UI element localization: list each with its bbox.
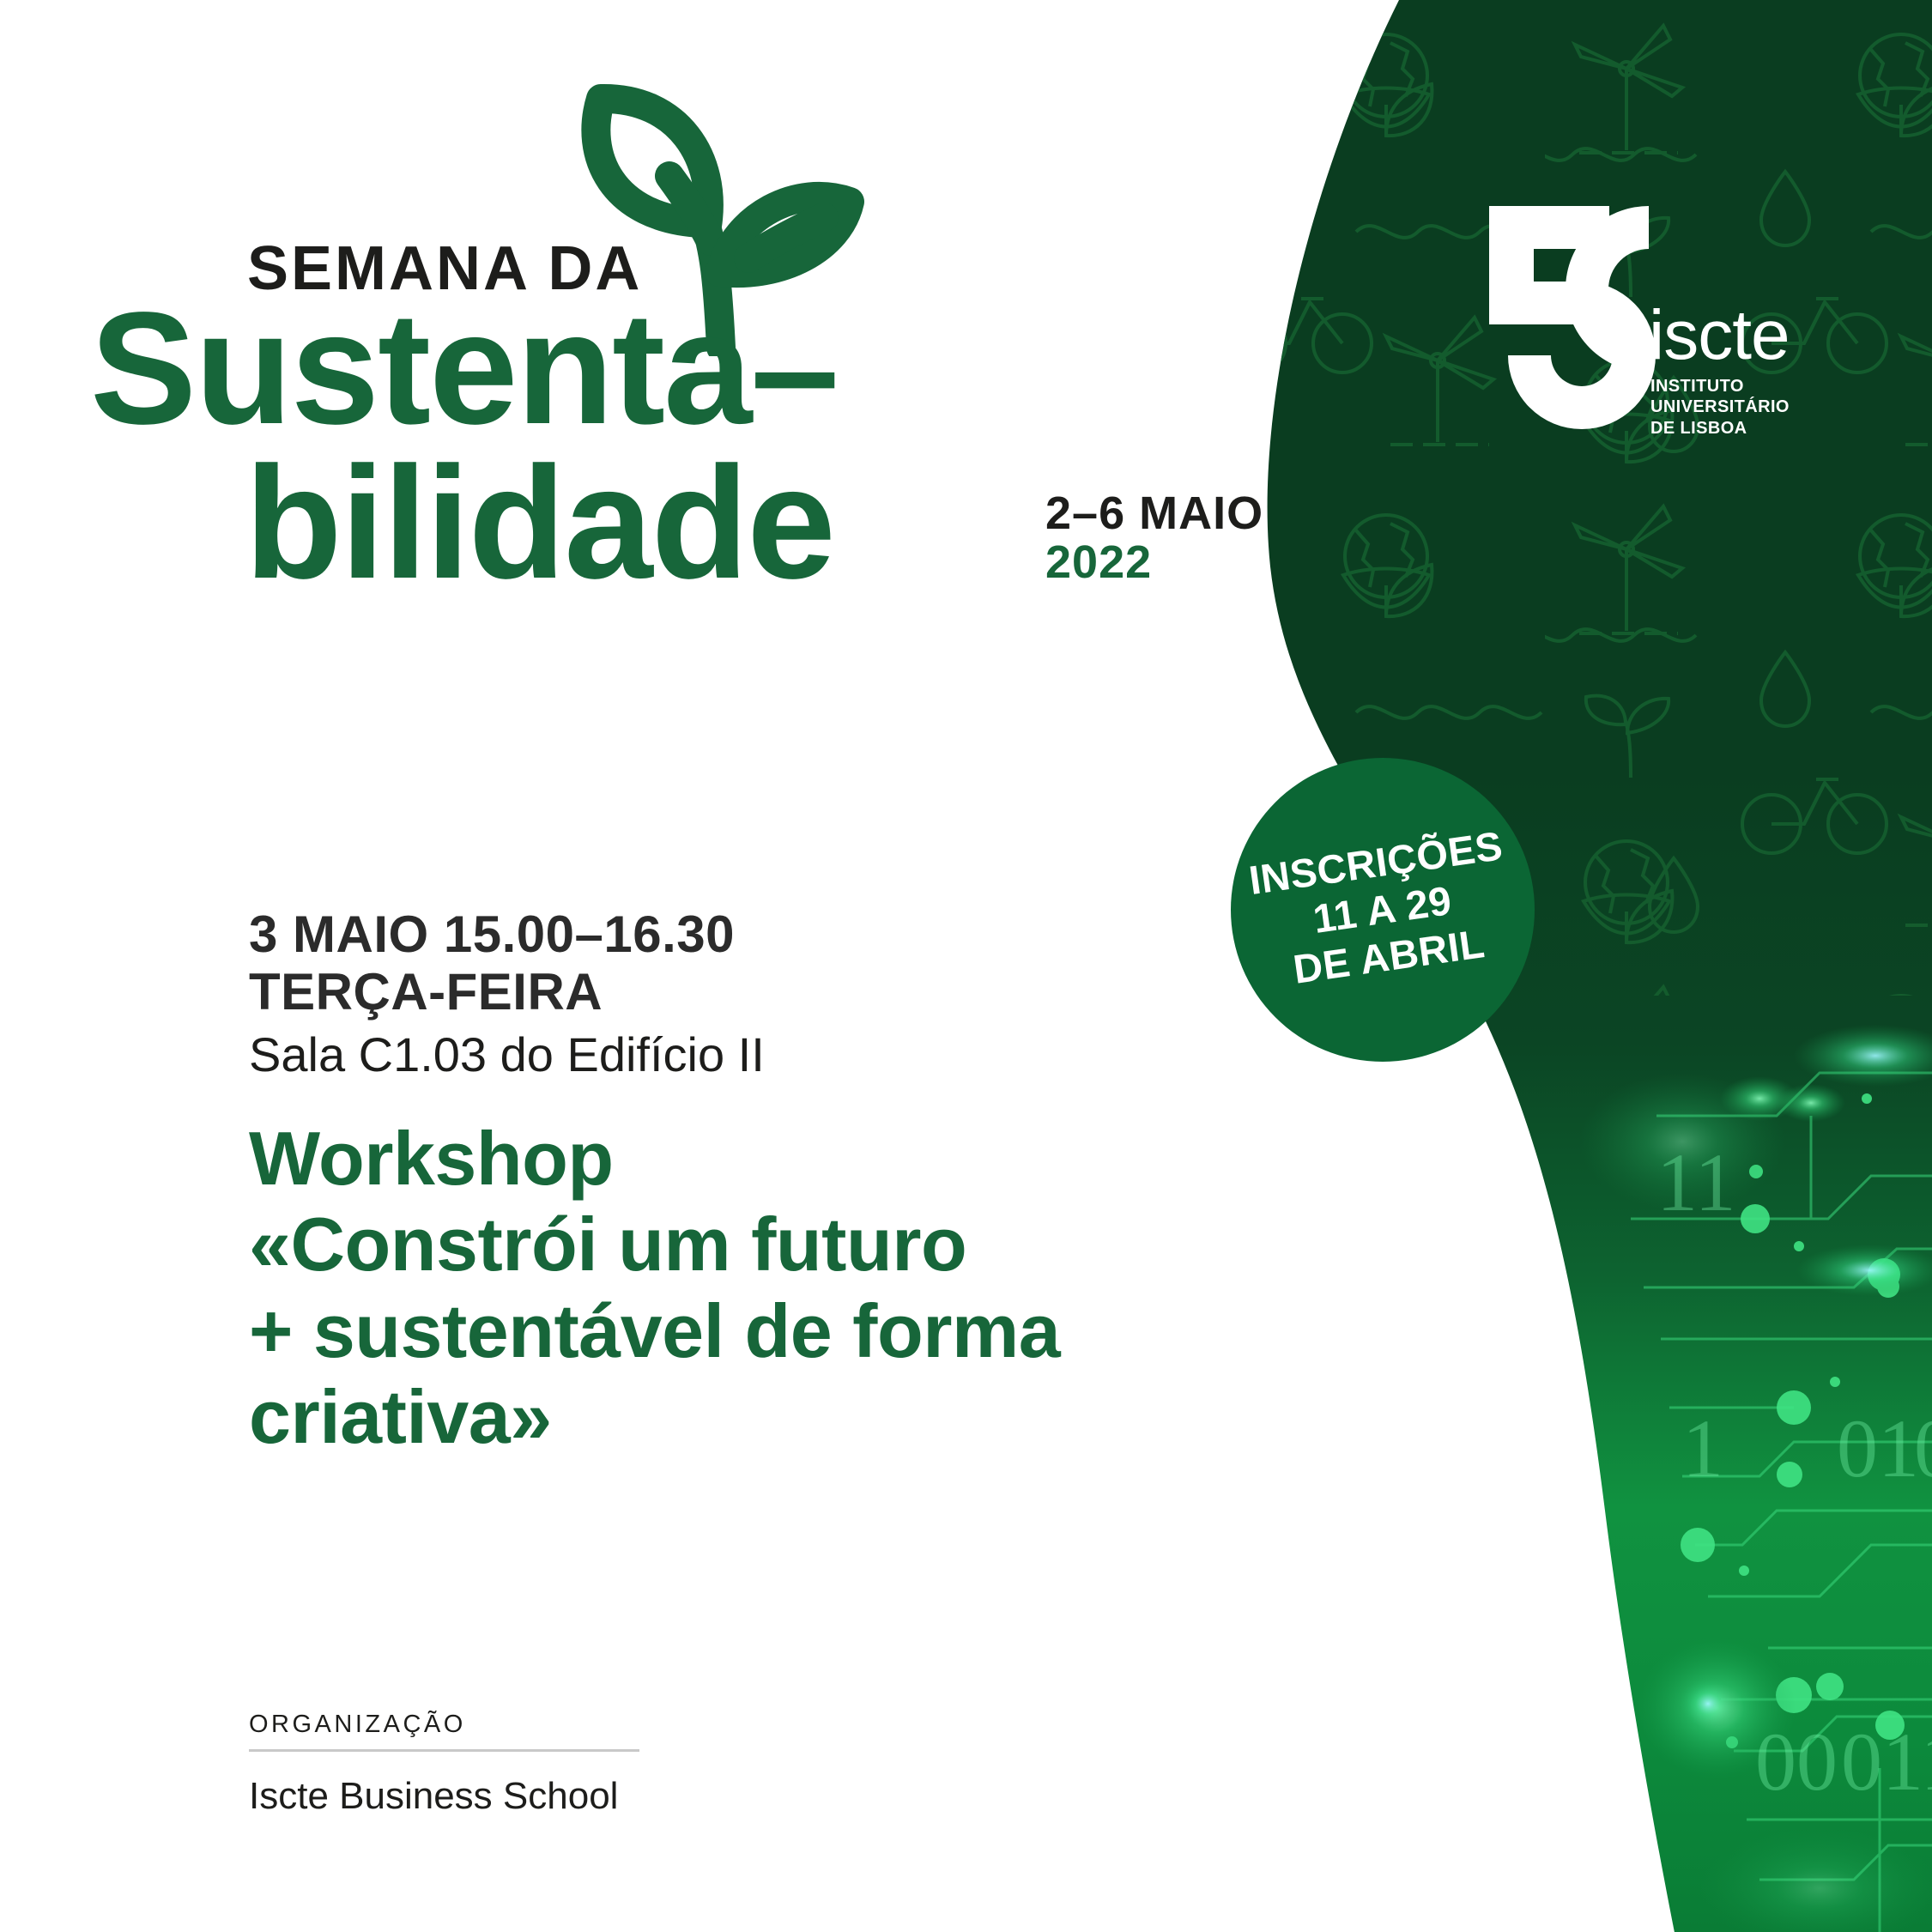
binary-label-11: 11 (1656, 1136, 1735, 1228)
organization-divider (249, 1749, 639, 1752)
poster-title-line-2: bilidade (86, 446, 1099, 601)
organization-name: Iscte Business School (249, 1778, 644, 1815)
organization-label: ORGANIZAÇÃO (249, 1712, 644, 1737)
binary-label-011: 011 (1841, 1716, 1932, 1808)
workshop-title-line-4: criativa» (249, 1374, 1305, 1460)
date-range-days: 2–6 MAIO (1045, 489, 1263, 538)
binary-label-0: 0 (1914, 1402, 1932, 1494)
event-weekday: TERÇA-FEIRA (249, 963, 1236, 1021)
iscte-subtitle-line-1: INSTITUTO (1650, 376, 1790, 397)
iscte-50-logo: iscte INSTITUTO UNIVERSITÁRIO DE LISBOA (1481, 199, 1841, 422)
poster-date-range: 2–6 MAIO 2022 (1045, 489, 1263, 587)
iscte-subtitle-line-2: UNIVERSITÁRIO (1650, 397, 1790, 417)
iscte-subtitle-line-3: DE LISBOA (1650, 418, 1790, 439)
workshop-title-line-2: «Constrói um futuro (249, 1202, 1305, 1287)
event-details: 3 MAIO 15.00–16.30 TERÇA-FEIRA Sala C1.0… (249, 905, 1236, 1084)
workshop-title: Workshop «Constrói um futuro + sustentáv… (249, 1116, 1305, 1460)
binary-label-00: 00 (1755, 1716, 1838, 1808)
organization-block: ORGANIZAÇÃO Iscte Business School (249, 1712, 644, 1815)
date-range-year: 2022 (1045, 538, 1263, 587)
binary-label-01: 01 (1837, 1402, 1919, 1494)
event-date-time: 3 MAIO 15.00–16.30 (249, 905, 1236, 963)
event-room: Sala C1.03 do Edifício II (249, 1026, 1236, 1083)
iscte-wordmark: iscte (1649, 300, 1790, 371)
poster-title: Sustenta– bilidade (86, 292, 1099, 602)
workshop-title-line-1: Workshop (249, 1116, 1305, 1202)
workshop-title-line-3: + sustentável de forma (249, 1288, 1305, 1374)
poster-canvas: 11 1 01 0 00 011 SEMANA DA Sustenta– bil… (0, 0, 1932, 1932)
registration-badge[interactable]: INSCRIÇÕES 11 A 29 DE ABRIL (1231, 758, 1535, 1062)
iscte-subtitle: INSTITUTO UNIVERSITÁRIO DE LISBOA (1650, 376, 1790, 439)
binary-label-1: 1 (1682, 1402, 1723, 1494)
registration-badge-text: INSCRIÇÕES 11 A 29 DE ABRIL (1246, 822, 1519, 998)
poster-title-line-1: Sustenta– (86, 292, 1099, 446)
event-datetime: 3 MAIO 15.00–16.30 TERÇA-FEIRA (249, 905, 1236, 1021)
